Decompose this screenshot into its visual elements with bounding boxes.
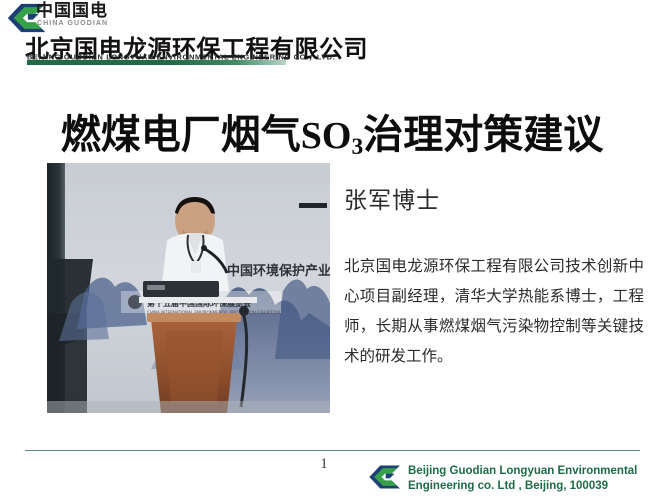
chem-subscript: 3 — [351, 134, 363, 160]
footer-guodian-g-logo-icon — [368, 463, 402, 491]
footer-address: Beijing Guodian Longyuan Environmental E… — [408, 464, 637, 494]
header-accent-bar — [27, 60, 286, 65]
presentation-slide: 中国国电 CHINA GUODIAN 北京国电龙源环保工程有限公司 BEIJIN… — [0, 0, 664, 502]
footer-address-line1: Beijing Guodian Longyuan Environmental — [408, 464, 637, 479]
title-part-before: 燃煤电厂烟气 — [61, 113, 301, 157]
title-part-after: 治理对策建议 — [363, 113, 603, 157]
speaker-bio: 北京国电龙源环保工程有限公司技术创新中心项目副经理，清华大学热能系博士，工程师，… — [344, 252, 644, 372]
brand-name-cn: 中国国电 — [36, 2, 108, 20]
svg-text:中国环境保护产业协会: 中国环境保护产业协会 — [227, 263, 330, 279]
footer-divider — [25, 450, 640, 451]
speaker-photo: 中国环境保护产业协会 第十五届中国国际环保展览会 CHINA INTERNATI… — [47, 163, 330, 413]
brand-name-en: CHINA GUODIAN — [37, 20, 108, 27]
speaker-photo-image: 中国环境保护产业协会 第十五届中国国际环保展览会 CHINA INTERNATI… — [47, 163, 330, 413]
slide-title: 燃煤电厂烟气SO3治理对策建议 — [0, 109, 664, 167]
speaker-name: 张军博士 — [344, 181, 440, 215]
title-chemical-formula: SO3 — [301, 115, 363, 157]
page-number: 1 — [310, 456, 338, 473]
chem-base: SO — [301, 115, 352, 157]
footer-address-line2: Engineering co. Ltd , Beijing, 100039 — [408, 479, 637, 494]
slide-header: 中国国电 CHINA GUODIAN 北京国电龙源环保工程有限公司 BEIJIN… — [0, 0, 664, 68]
